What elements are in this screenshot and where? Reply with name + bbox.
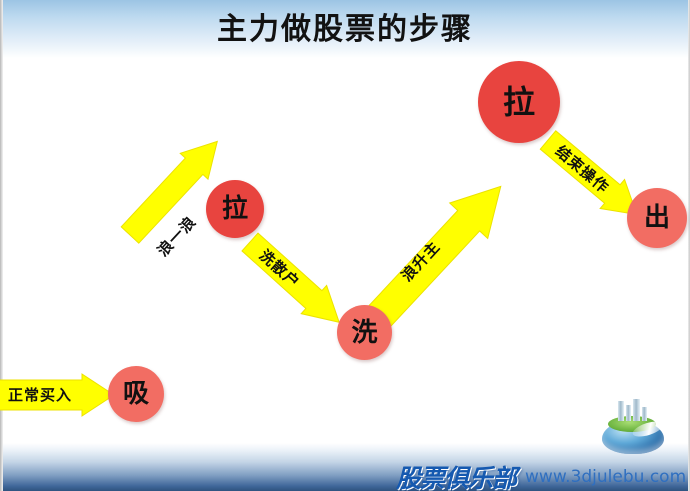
node-xi-2: 洗 [337, 305, 392, 360]
node-la-1: 拉 [206, 180, 264, 238]
page-title: 主力做股票的步骤 [0, 4, 690, 48]
logo-building-4 [642, 406, 647, 421]
watermark: 股票俱乐部 www.3djulebu.com [396, 459, 686, 491]
arrow-normal-buy-label: 正常买入 [8, 384, 72, 405]
node-la-2-label: 拉 [503, 86, 535, 118]
node-xi: 吸 [108, 366, 164, 422]
node-chu: 出 [627, 188, 687, 248]
node-chu-label: 出 [644, 205, 670, 231]
watermark-url: www.3djulebu.com [525, 467, 686, 487]
site-logo-icon [602, 398, 666, 456]
slide-canvas: 主力做股票的步骤 正常买入 浪一浪 洗散户 浪升主 结束操作 吸 [0, 0, 690, 491]
left-edge-border [0, 0, 3, 491]
node-xi-2-label: 洗 [351, 320, 377, 346]
watermark-brand: 股票俱乐部 [396, 459, 516, 491]
node-la-1-label: 拉 [222, 196, 248, 222]
node-xi-label: 吸 [123, 381, 149, 407]
node-la-2: 拉 [478, 61, 560, 143]
logo-building-1 [618, 400, 624, 421]
logo-building-3 [633, 398, 640, 421]
logo-building-2 [626, 404, 631, 421]
